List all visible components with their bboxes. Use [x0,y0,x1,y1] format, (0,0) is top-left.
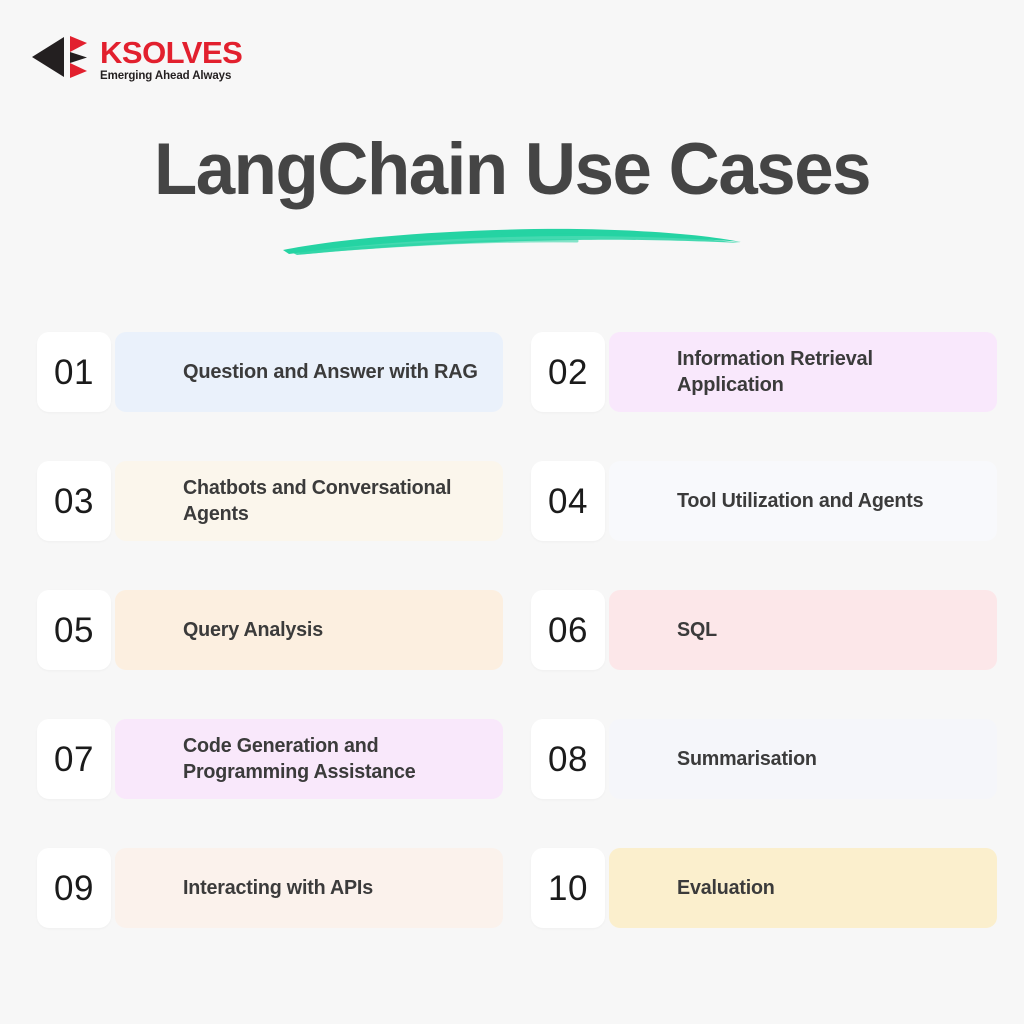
brand-wordmark: KSOLVES Emerging Ahead Always [100,37,242,83]
use-case-grid: Question and Answer with RAG 01 Informat… [37,332,997,928]
card-body-10: Evaluation [609,848,997,928]
card-label-07: Code Generation and Programming Assistan… [183,733,482,786]
use-case-card-05[interactable]: Query Analysis 05 [37,590,503,670]
card-number-box-09: 09 [37,848,111,928]
card-label-05: Query Analysis [183,617,323,643]
card-body-07: Code Generation and Programming Assistan… [115,719,503,799]
card-label-08: Summarisation [677,746,817,772]
card-number-box-07: 07 [37,719,111,799]
brand-tagline: Emerging Ahead Always [100,71,242,83]
card-body-03: Chatbots and Conversational Agents [115,461,503,541]
card-number-03: 03 [54,484,94,519]
card-label-01: Question and Answer with RAG [183,359,478,385]
card-number-10: 10 [548,871,588,906]
card-label-09: Interacting with APIs [183,875,373,901]
card-body-01: Question and Answer with RAG [115,332,503,412]
card-number-01: 01 [54,355,94,390]
card-body-09: Interacting with APIs [115,848,503,928]
card-number-box-03: 03 [37,461,111,541]
card-number-box-08: 08 [531,719,605,799]
card-label-02: Information Retrieval Application [677,346,981,399]
card-number-box-10: 10 [531,848,605,928]
card-body-06: SQL [609,590,997,670]
card-body-02: Information Retrieval Application [609,332,997,412]
card-number-07: 07 [54,742,94,777]
card-number-box-01: 01 [37,332,111,412]
card-number-06: 06 [548,613,588,648]
card-number-04: 04 [548,484,588,519]
card-number-box-05: 05 [37,590,111,670]
page-title: LangChain Use Cases [15,132,1008,209]
card-number-09: 09 [54,871,94,906]
card-number-08: 08 [548,742,588,777]
use-case-card-04[interactable]: Tool Utilization and Agents 04 [531,461,997,541]
header: LangChain Use Cases [0,132,1024,262]
card-number-02: 02 [548,355,588,390]
card-body-08: Summarisation [609,719,997,799]
use-case-card-09[interactable]: Interacting with APIs 09 [37,848,503,928]
card-label-10: Evaluation [677,875,775,901]
card-body-05: Query Analysis [115,590,503,670]
card-number-box-02: 02 [531,332,605,412]
card-label-06: SQL [677,617,717,643]
brand-logo: KSOLVES Emerging Ahead Always [30,33,242,86]
use-case-card-10[interactable]: Evaluation 10 [531,848,997,928]
card-number-05: 05 [54,613,94,648]
card-number-box-06: 06 [531,590,605,670]
card-body-04: Tool Utilization and Agents [609,461,997,541]
ksolves-triangle-logo-icon [30,33,90,86]
brand-name: KSOLVES [100,37,242,68]
card-label-03: Chatbots and Conversational Agents [183,475,482,528]
use-case-card-01[interactable]: Question and Answer with RAG 01 [37,332,503,412]
card-number-box-04: 04 [531,461,605,541]
use-case-card-06[interactable]: SQL 06 [531,590,997,670]
use-case-card-08[interactable]: Summarisation 08 [531,719,997,799]
use-case-card-02[interactable]: Information Retrieval Application 02 [531,332,997,412]
title-underline [0,223,1024,262]
card-label-04: Tool Utilization and Agents [677,488,923,514]
brush-stroke-underline-icon [277,223,747,262]
use-case-card-07[interactable]: Code Generation and Programming Assistan… [37,719,503,799]
use-case-card-03[interactable]: Chatbots and Conversational Agents 03 [37,461,503,541]
